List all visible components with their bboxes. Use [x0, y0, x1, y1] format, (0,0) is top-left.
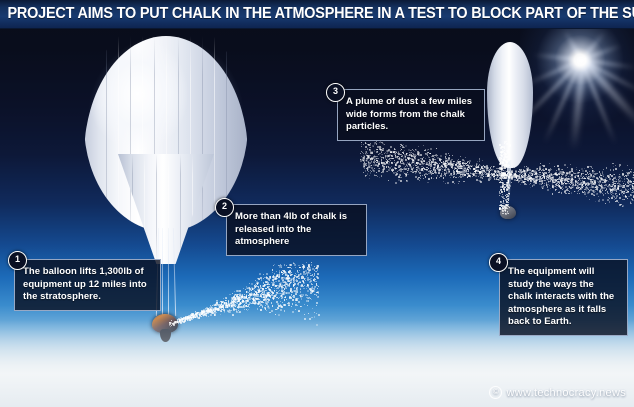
chalk-dust-plume [360, 140, 634, 220]
callout-1-text: The balloon lifts 1,300lb of equipment u… [23, 266, 153, 304]
tether-line [162, 228, 163, 316]
balloon-primary [84, 36, 248, 251]
watermark: © www.technocracy.news [489, 386, 626, 399]
callout-1-badge: 1 [8, 251, 27, 270]
callout-4: The equipment will study the ways the ch… [499, 259, 628, 336]
copyright-icon: © [489, 386, 502, 399]
callout-1: The balloon lifts 1,300lb of equipment u… [14, 259, 161, 311]
watermark-text: www.technocracy.news [506, 387, 626, 399]
infographic-canvas: PROJECT AIMS TO PUT CHALK IN THE ATMOSPH… [0, 0, 634, 407]
callout-4-text: The equipment will study the ways the ch… [508, 266, 620, 329]
callout-3-badge: 3 [326, 83, 345, 102]
callout-2-badge: 2 [215, 198, 234, 217]
callout-3-text: A plume of dust a few miles wide forms f… [346, 96, 477, 134]
callout-3: A plume of dust a few miles wide forms f… [337, 89, 485, 141]
callout-2: More than 4lb of chalk is released into … [226, 204, 367, 256]
headline-bar: PROJECT AIMS TO PUT CHALK IN THE ATMOSPH… [0, 0, 634, 29]
callout-4-badge: 4 [489, 253, 508, 272]
callout-2-text: More than 4lb of chalk is released into … [235, 211, 359, 249]
headline-text: PROJECT AIMS TO PUT CHALK IN THE ATMOSPH… [0, 5, 634, 23]
